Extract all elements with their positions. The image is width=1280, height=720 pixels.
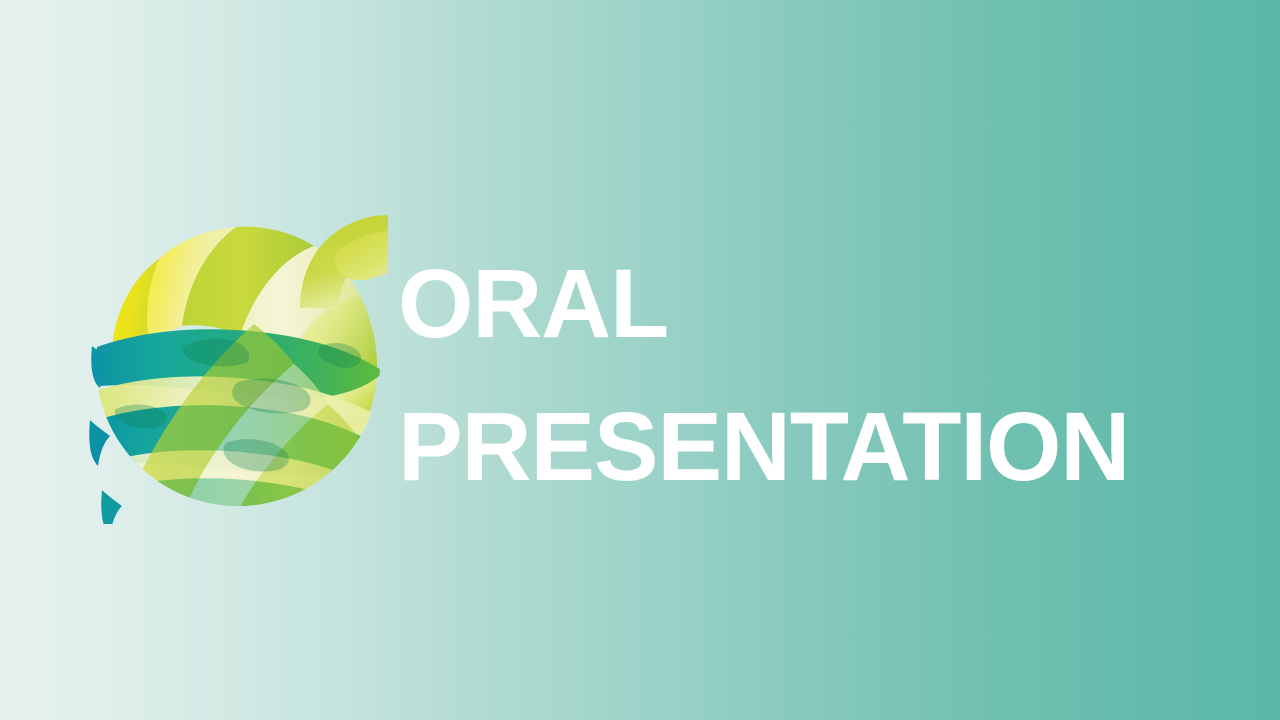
title-line-2: PRESENTATION	[398, 375, 1218, 518]
globe-ribbon-leaf-logo	[88, 196, 388, 524]
ribbon-bottom-green	[148, 512, 376, 524]
slide-title: ORAL PRESENTATION	[398, 232, 1218, 518]
hook-teal-3	[101, 490, 122, 524]
globe-ribbons	[89, 215, 388, 524]
logo-artwork	[88, 196, 388, 524]
title-slide: ORAL PRESENTATION	[0, 0, 1280, 720]
ribbon-bottom-group	[148, 512, 378, 524]
title-line-1: ORAL	[398, 232, 1218, 375]
hook-teal-2	[89, 420, 110, 466]
